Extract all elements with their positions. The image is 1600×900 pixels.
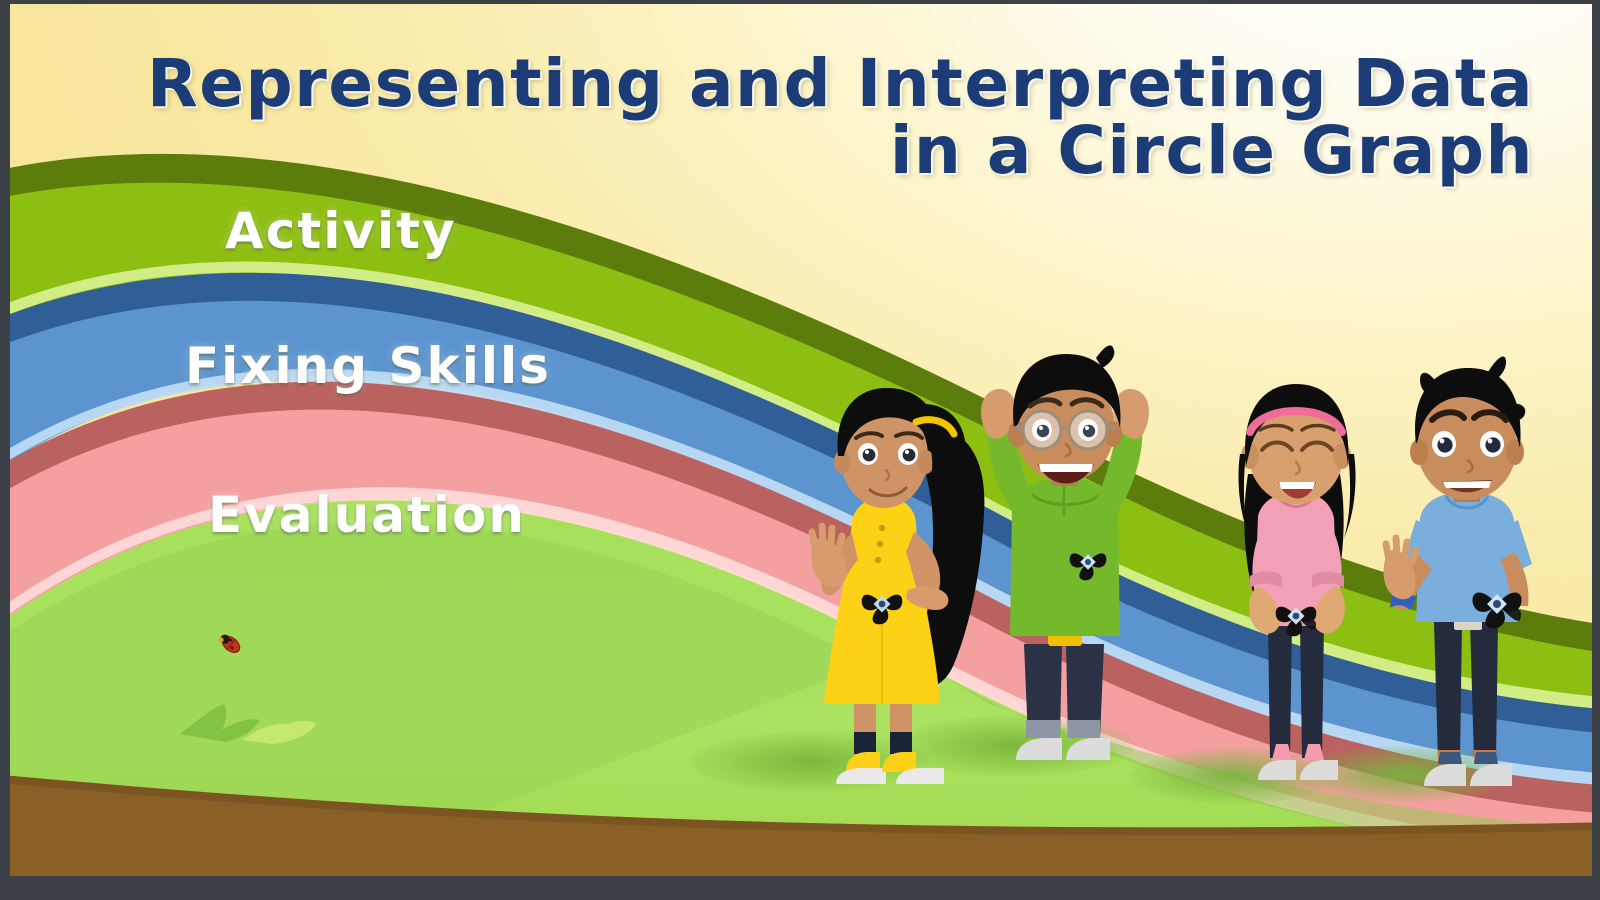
slide-stage: Representing and Interpreting Data in a … [10,4,1592,876]
scene-illustration [10,4,1592,876]
slide-frame: Representing and Interpreting Data in a … [0,0,1600,900]
menu-item-evaluation[interactable]: Evaluation [208,486,526,544]
menu-item-fixing-skills[interactable]: Fixing Skills [185,337,551,395]
menu-item-activity[interactable]: Activity [225,202,457,260]
